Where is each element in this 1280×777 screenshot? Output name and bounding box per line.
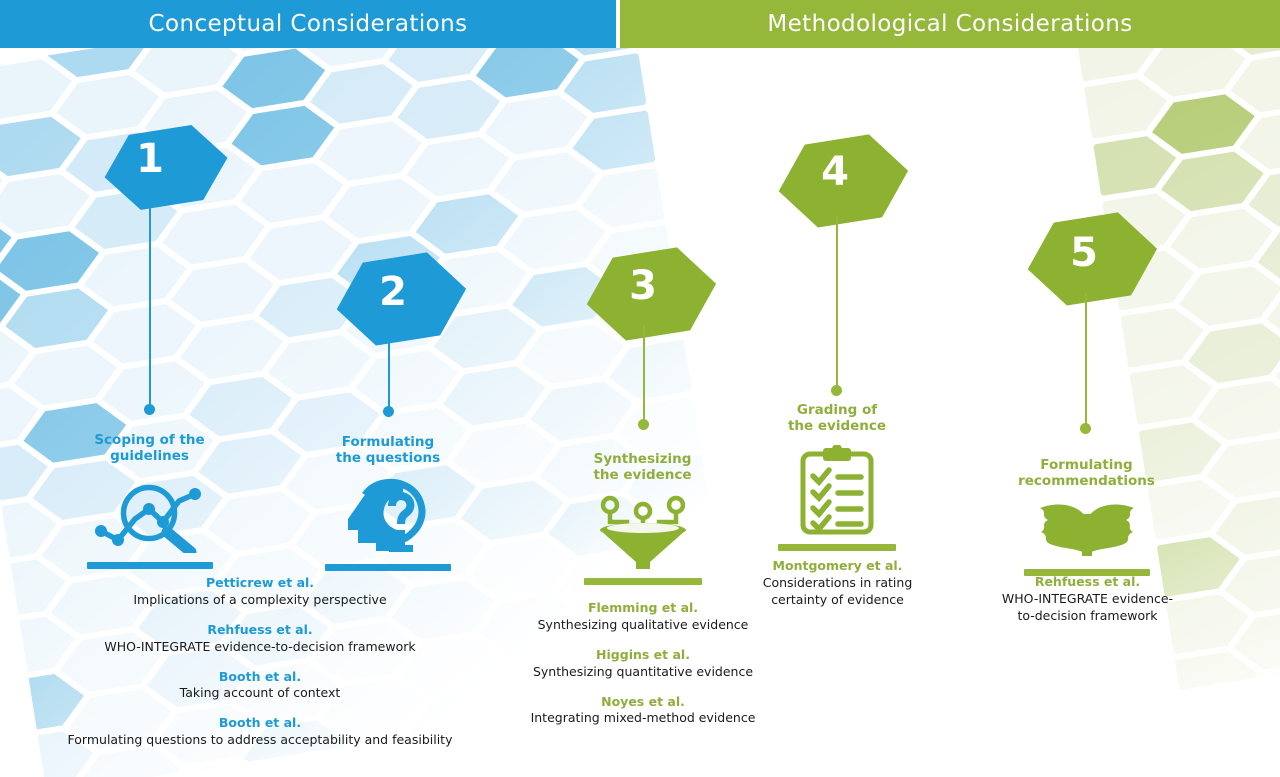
- infographic-canvas: Conceptual Considerations Methodological…: [0, 0, 1280, 777]
- funnel-icon: [565, 494, 720, 569]
- reference-author: Flemming et al.: [512, 600, 774, 617]
- reference-item: Booth et al. Taking account of context: [40, 669, 480, 703]
- reference-item: Booth et al. Formulating questions to ad…: [40, 715, 480, 749]
- reference-author: Rehfuess et al.: [40, 622, 480, 639]
- step-2-title: Formulating the questions: [303, 434, 473, 467]
- connector-dot-3: [638, 419, 649, 430]
- reference-author: Higgins et al.: [512, 647, 774, 664]
- step-2-rule: [325, 564, 451, 571]
- reference-item: Noyes et al. Integrating mixed-method ev…: [512, 694, 774, 728]
- reference-author: Montgomery et al.: [755, 558, 920, 575]
- clipboard-checklist-icon: [762, 445, 912, 535]
- step-3-title: Synthesizing the evidence: [565, 451, 720, 484]
- reference-item: Higgins et al. Synthesizing quantitative…: [512, 647, 774, 681]
- connector-line-3: [643, 325, 645, 425]
- reference-desc: Synthesizing qualitative evidence: [512, 617, 774, 634]
- connector-dot-4: [831, 385, 842, 396]
- reference-desc: Considerations in rating certainty of ev…: [755, 575, 920, 609]
- reference-desc: Implications of a complexity perspective: [40, 592, 480, 609]
- reference-desc: Taking account of context: [40, 685, 480, 702]
- step-hexagon-4[interactable]: [772, 129, 915, 232]
- reference-author: Booth et al.: [40, 715, 480, 732]
- step-4-block: Grading of the evidence: [762, 402, 912, 551]
- references-grading: Montgomery et al. Considerations in rati…: [755, 558, 920, 622]
- connector-line-5: [1085, 294, 1087, 429]
- step-3-rule: [584, 578, 702, 585]
- head-question-icon: [303, 477, 473, 555]
- step-1-title: Scoping of the guidelines: [62, 432, 237, 465]
- open-book-icon: [1009, 500, 1164, 560]
- step-5-block: Formulating recommendations: [1009, 457, 1164, 576]
- step-2-block: Formulating the questions: [303, 434, 473, 571]
- step-1-rule: [87, 562, 213, 569]
- reference-desc: WHO-INTEGRATE evidence-to-decision frame…: [40, 639, 480, 656]
- connector-line-1: [149, 198, 151, 410]
- step-hexagon-1[interactable]: [99, 120, 234, 215]
- step-hexagon-3[interactable]: [580, 242, 723, 345]
- step-hexagon-2[interactable]: [330, 247, 473, 350]
- step-3-block: Synthesizing the evidence: [565, 451, 720, 585]
- reference-desc: Formulating questions to address accepta…: [40, 732, 480, 749]
- connector-line-2: [388, 330, 390, 412]
- reference-item: Rehfuess et al. WHO-INTEGRATE evidence- …: [1000, 574, 1175, 625]
- reference-desc: Synthesizing quantitative evidence: [512, 664, 774, 681]
- step-4-title: Grading of the evidence: [762, 402, 912, 435]
- references-recommendations: Rehfuess et al. WHO-INTEGRATE evidence- …: [1000, 574, 1175, 638]
- reference-author: Rehfuess et al.: [1000, 574, 1175, 591]
- references-synthesizing: Flemming et al. Synthesizing qualitative…: [512, 600, 774, 740]
- connector-line-4: [836, 216, 838, 391]
- magnifier-chart-icon: [62, 475, 237, 553]
- reference-author: Petticrew et al.: [40, 575, 480, 592]
- reference-item: Rehfuess et al. WHO-INTEGRATE evidence-t…: [40, 622, 480, 656]
- reference-author: Booth et al.: [40, 669, 480, 686]
- step-5-title: Formulating recommendations: [1009, 457, 1164, 490]
- step-1-block: Scoping of the guidelines: [62, 432, 237, 569]
- reference-item: Montgomery et al. Considerations in rati…: [755, 558, 920, 609]
- connector-dot-5: [1080, 423, 1091, 434]
- reference-item: Petticrew et al. Implications of a compl…: [40, 575, 480, 609]
- reference-desc: WHO-INTEGRATE evidence- to-decision fram…: [1000, 591, 1175, 625]
- reference-author: Noyes et al.: [512, 694, 774, 711]
- reference-item: Flemming et al. Synthesizing qualitative…: [512, 600, 774, 634]
- step-4-rule: [778, 544, 896, 551]
- connector-dot-2: [383, 406, 394, 417]
- connector-dot-1: [144, 404, 155, 415]
- reference-desc: Integrating mixed-method evidence: [512, 710, 774, 727]
- references-conceptual: Petticrew et al. Implications of a compl…: [40, 575, 480, 762]
- step-hexagon-5[interactable]: [1021, 207, 1164, 310]
